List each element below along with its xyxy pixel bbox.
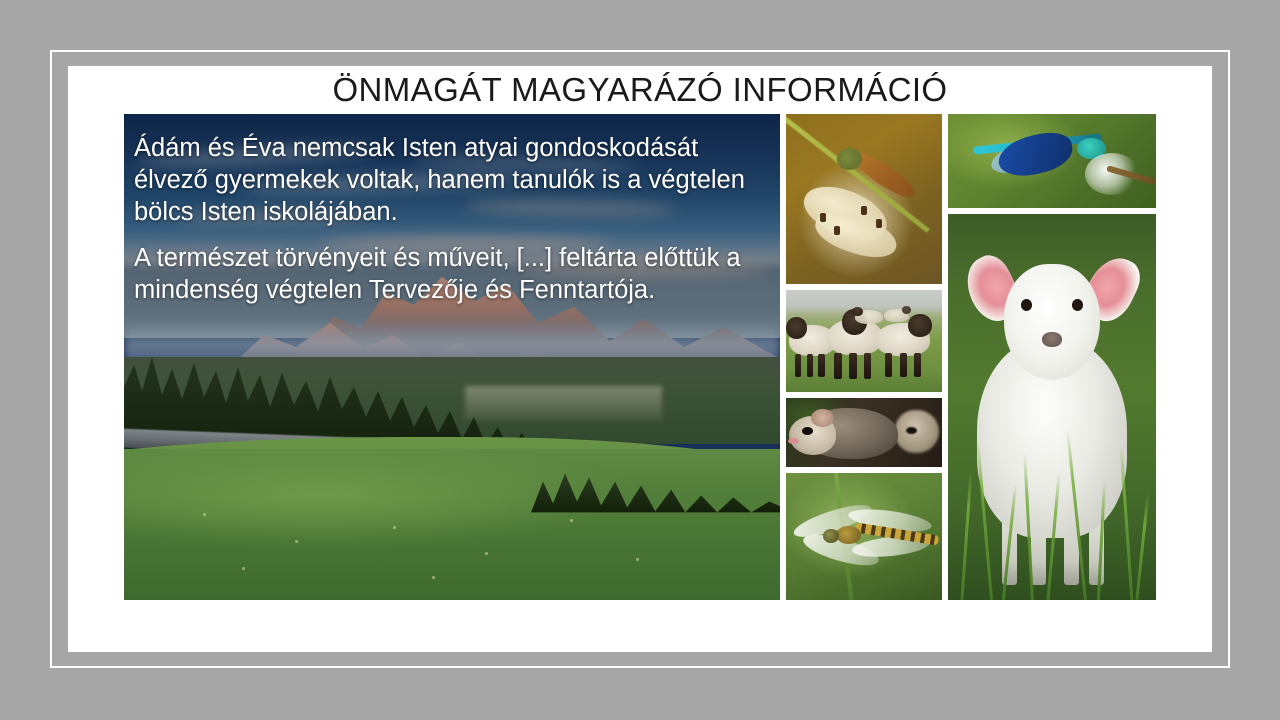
gallery-photo-dormice (786, 398, 942, 467)
second-mouse-eye-shape (906, 427, 917, 434)
gallery-photo-owlfly (786, 114, 942, 284)
right-treeline-layer (531, 386, 780, 512)
gallery-photo-dragonfly (786, 473, 942, 600)
slide-title: ÖNMAGÁT MAGYARÁZÓ INFORMÁCIÓ (68, 70, 1212, 110)
lamb-head-shape (1004, 264, 1100, 380)
sheep-shape (876, 323, 929, 376)
wing-spot-shape (834, 226, 840, 235)
presentation-slide: ÖNMAGÁT MAGYARÁZÓ INFORMÁCIÓ (0, 0, 1280, 720)
wing-spot-shape (861, 206, 867, 215)
hero-paragraph-1: Ádám és Éva nemcsak Isten atyai gondosko… (134, 132, 762, 228)
dragonfly-thorax-shape (836, 526, 861, 544)
gallery-photo-lamb (948, 214, 1156, 600)
second-mouse-head-shape (895, 410, 939, 453)
sheep-shape-distant (855, 310, 883, 332)
lamb-nose-shape (1042, 332, 1063, 347)
wing-spot-shape (876, 219, 882, 228)
dragonfly-head-shape (823, 529, 839, 543)
gallery-photo-damselfly (948, 114, 1156, 208)
wing-spot-shape (820, 213, 826, 222)
gallery-photo-sheep-flock (786, 290, 942, 392)
sheep-shape-distant (884, 309, 909, 329)
mouse-eye-shape (802, 427, 813, 435)
hero-body-text: Ádám és Éva nemcsak Isten atyai gondosko… (134, 132, 762, 306)
hero-photo-alpine-meadow: Ádám és Éva nemcsak Isten atyai gondosko… (124, 114, 780, 600)
hero-paragraph-2: A természet törvényeit és műveit, [...] … (134, 242, 762, 306)
